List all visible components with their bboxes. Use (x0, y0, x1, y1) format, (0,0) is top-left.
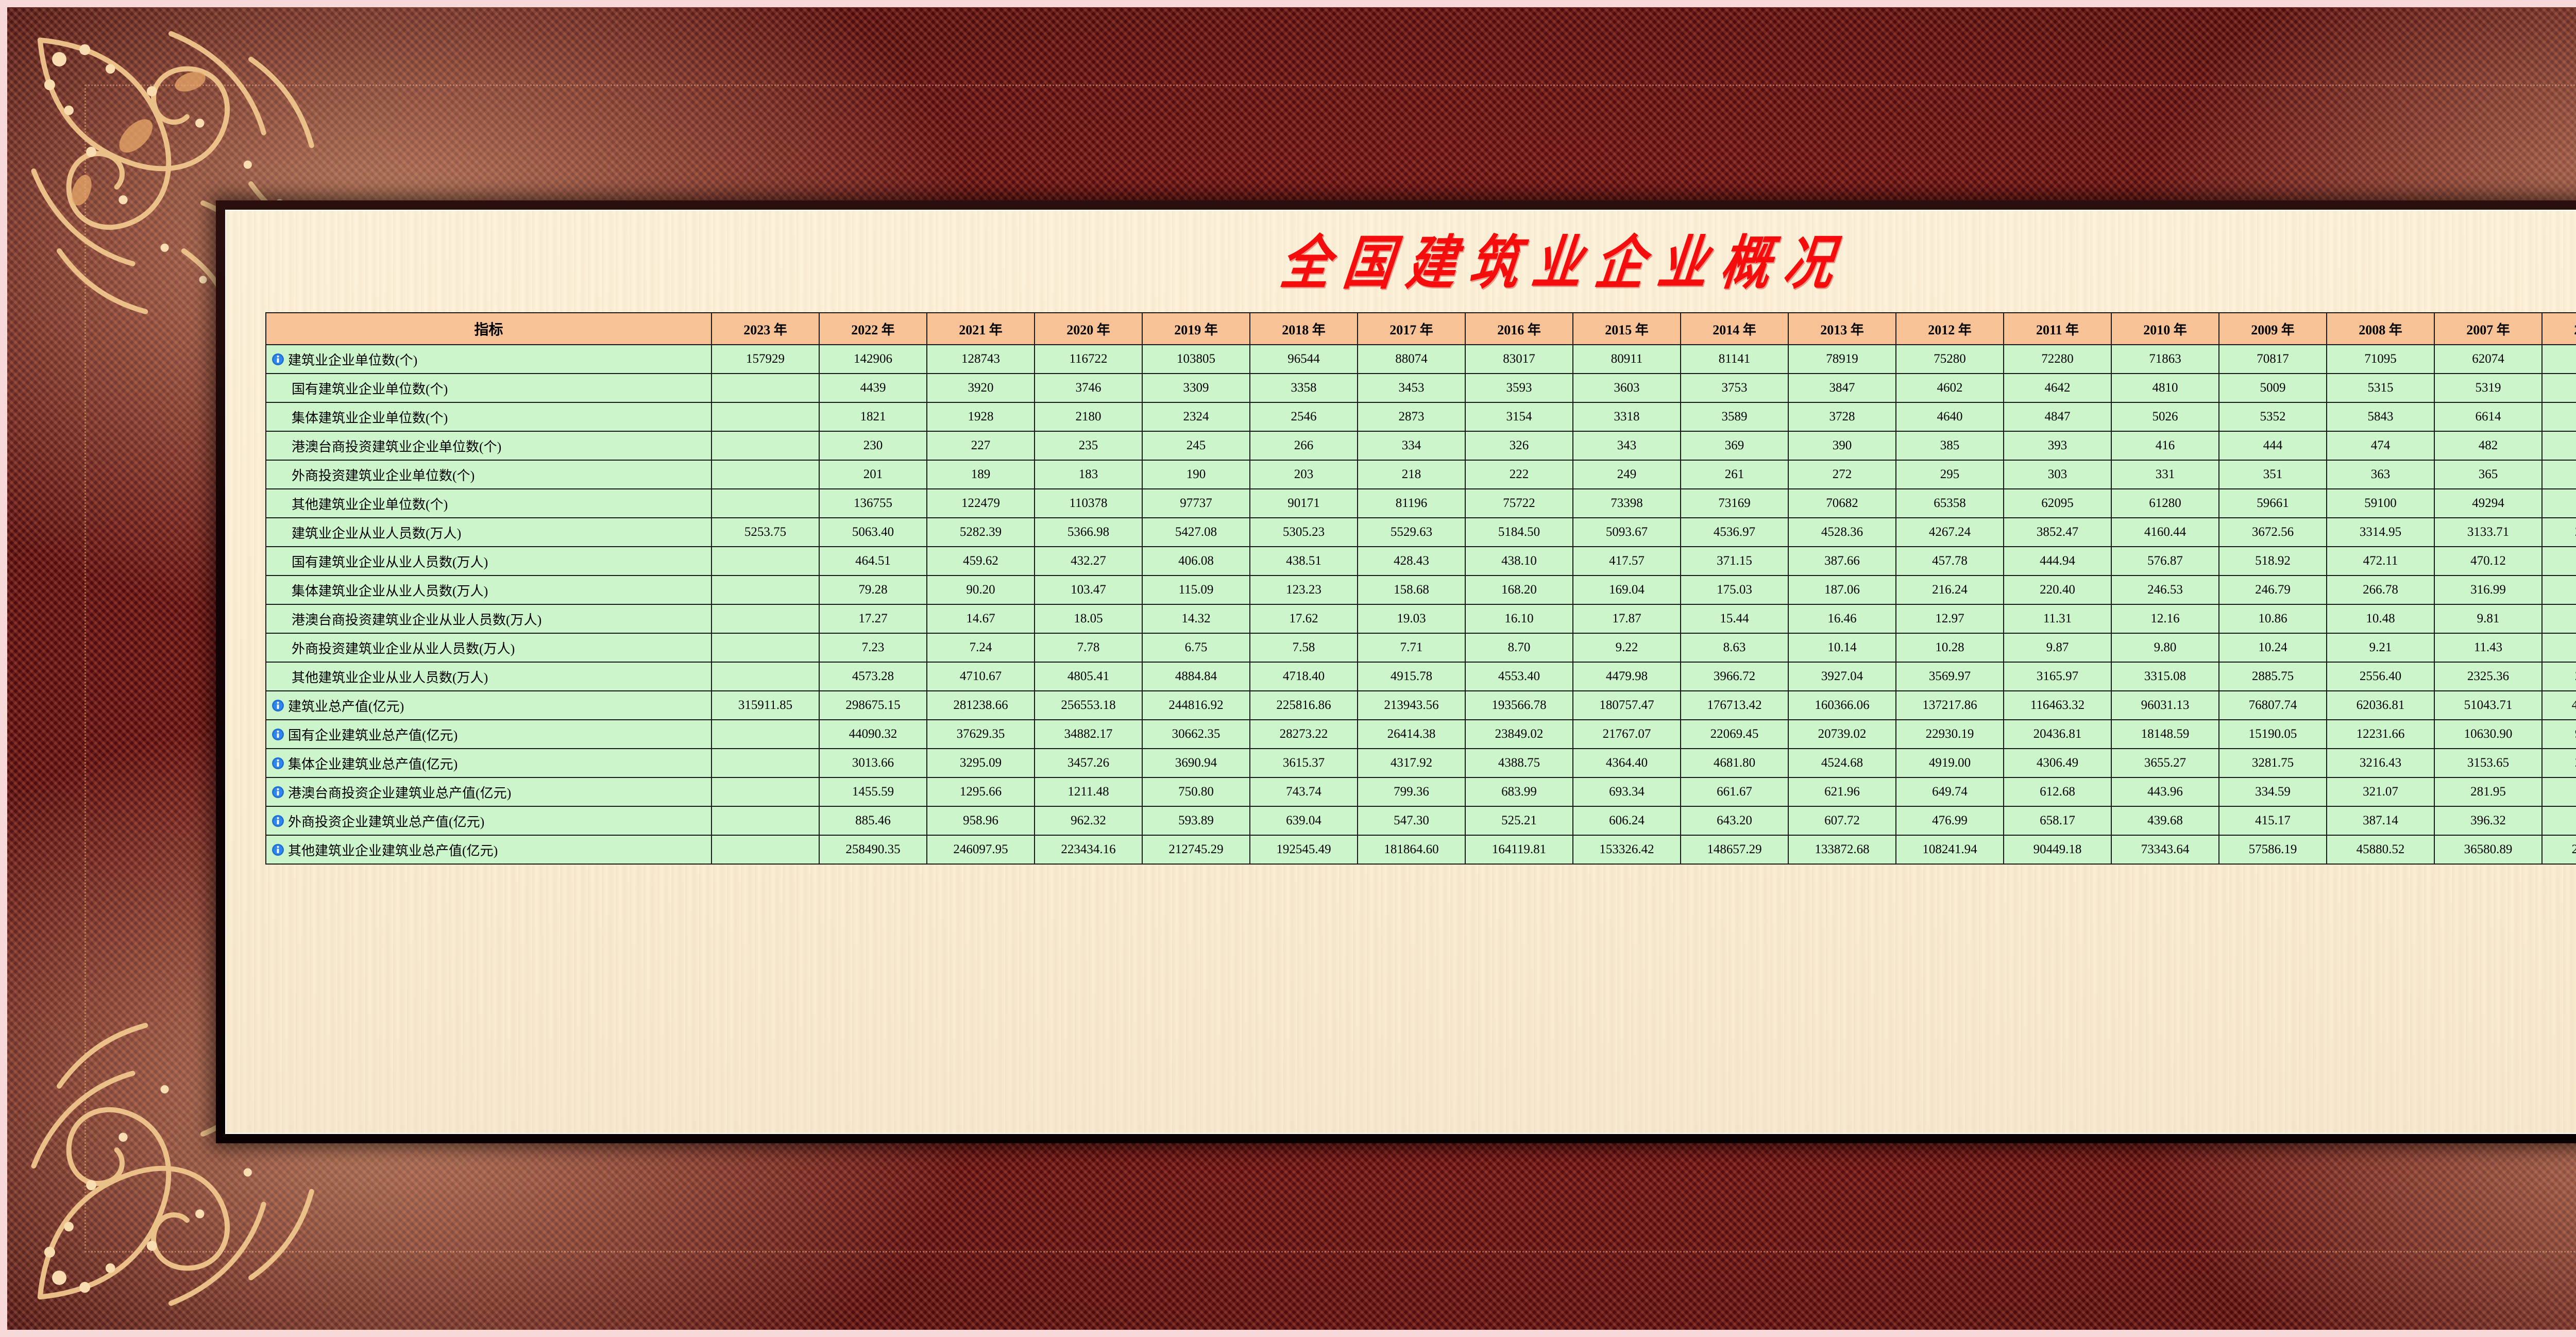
table-cell-value: 9218.56 (2542, 720, 2576, 749)
page-title: 全国建筑业企业概况 (1276, 215, 1852, 300)
table-cell-value: 258490.35 (819, 835, 927, 864)
table-cell-value: 193566.78 (1465, 691, 1573, 720)
table-cell-value: 606.24 (1573, 806, 1681, 835)
table-cell-value: 3690.94 (1142, 749, 1250, 777)
table-cell-value: 334 (1358, 431, 1465, 460)
table-cell-value: 5184.50 (1465, 518, 1573, 547)
table-cell-value: 261 (1681, 460, 1788, 489)
row-label-text: 建筑业企业从业人员数(万人) (292, 523, 461, 542)
table-cell-value: 593.89 (1142, 806, 1250, 835)
table-cell-value: 439.68 (2111, 806, 2219, 835)
column-header-year: 2006 年 (2542, 313, 2576, 345)
table-cell-value: 281238.66 (927, 691, 1035, 720)
table-cell-value: 46711 (2542, 489, 2576, 518)
table-cell-value: 693.34 (1573, 777, 1681, 806)
row-label-text: 集体企业建筑业总产值(亿元) (288, 754, 457, 773)
table-row: 港澳台商投资建筑业企业从业人员数(万人)17.2714.6718.0514.32… (266, 604, 2576, 633)
column-header-year: 2023 年 (711, 313, 819, 345)
table-cell-value: 6614 (2434, 402, 2542, 431)
table-cell-value: 363 (2327, 460, 2434, 489)
table-cell-value: 222 (1465, 460, 1573, 489)
table-cell-value: 18.05 (1035, 604, 1142, 633)
row-label-text: 其他建筑业企业建筑业总产值(亿元) (288, 840, 498, 859)
table-cell-value: 160366.06 (1788, 691, 1896, 720)
table-cell-value: 639.04 (1250, 806, 1358, 835)
info-icon[interactable] (272, 843, 284, 856)
table-cell-value: 3013.66 (819, 749, 927, 777)
table-cell-value: 387.14 (2327, 806, 2434, 835)
table-cell-value: 4479.98 (1573, 662, 1681, 691)
table-cell-value: 71863 (2111, 345, 2219, 374)
row-label-text: 外商投资建筑业企业单位数(个) (292, 465, 474, 484)
info-icon[interactable] (272, 699, 284, 712)
table-cell-value: 371.15 (1681, 547, 1788, 576)
table-cell-value: 148657.29 (1681, 835, 1788, 864)
table-cell-value: 8.90 (2542, 604, 2576, 633)
table-cell-value: 316.99 (2434, 576, 2542, 604)
table-cell-value: 73343.64 (2111, 835, 2219, 864)
table-row: 港澳台商投资建筑业企业单位数(个)23022723524526633432634… (266, 431, 2576, 460)
table-cell-value: 3295.09 (927, 749, 1035, 777)
table-cell-value: 218 (1358, 460, 1465, 489)
table-cell-value: 649.74 (1896, 777, 2004, 806)
table-row: 外商投资建筑业企业从业人员数(万人)7.237.247.786.757.587.… (266, 633, 2576, 662)
table-cell-value: 1295.66 (927, 777, 1035, 806)
table-cell-value: 396.32 (2434, 806, 2542, 835)
table-cell-value: 8.10 (2542, 633, 2576, 662)
table-cell-value: 416 (2111, 431, 2219, 460)
table-cell-value: 20436.81 (2004, 720, 2111, 749)
table-cell-value: 26414.38 (1358, 720, 1465, 749)
column-header-year: 2016 年 (1465, 313, 1573, 345)
table-cell-value: 30662.35 (1142, 720, 1250, 749)
table-cell-value: 351 (2219, 460, 2327, 489)
table-cell-value: 958.96 (927, 806, 1035, 835)
column-header-year: 2022 年 (819, 313, 927, 345)
table-cell-value: 5315 (2327, 374, 2434, 402)
table-cell-value: 240.52 (2542, 777, 2576, 806)
table-cell-value: 5319 (2434, 374, 2542, 402)
table-cell-value: 65358 (1896, 489, 2004, 518)
table-cell-value: 885.46 (819, 806, 927, 835)
table-cell-value: 962.32 (1035, 806, 1142, 835)
table-cell-value: 44090.32 (819, 720, 927, 749)
table-cell-value: 385 (1896, 431, 2004, 460)
table-cell-value: 7051 (2542, 402, 2576, 431)
table-row: 国有企业建筑业总产值(亿元)44090.3237629.3534882.1730… (266, 720, 2576, 749)
table-cell-value: 4640 (1896, 402, 2004, 431)
table-cell-value: 10.48 (2327, 604, 2434, 633)
table-cell-value: 464.51 (819, 547, 927, 576)
table-cell-value: 244816.92 (1142, 691, 1250, 720)
row-label-cell: 其他建筑业企业单位数(个) (266, 489, 711, 518)
table-row: 国有建筑业企业从业人员数(万人)464.51459.62432.27406.08… (266, 547, 2576, 576)
table-cell-value: 4919.00 (1896, 749, 2004, 777)
row-label-text: 建筑业企业单位数(个) (288, 350, 417, 369)
table-cell-value: 4847 (2004, 402, 2111, 431)
table-cell-value: 9.87 (2004, 633, 2111, 662)
table-cell-value: 80911 (1573, 345, 1681, 374)
table-header: 指标2023 年2022 年2021 年2020 年2019 年2018 年20… (266, 313, 2576, 345)
info-icon[interactable] (272, 786, 284, 799)
table-cell-value: 230 (819, 431, 927, 460)
table-cell-value: 612.68 (2004, 777, 2111, 806)
table-cell-value: 70682 (1788, 489, 1896, 518)
table-cell-value: 2180 (1035, 402, 1142, 431)
table-cell-value: 459.62 (927, 547, 1035, 576)
table-cell-value: 22069.45 (1681, 720, 1788, 749)
table-cell-value: 281.95 (2434, 777, 2542, 806)
table-cell-value: 4528.36 (1788, 518, 1896, 547)
table-cell-value: 153326.42 (1573, 835, 1681, 864)
table-cell-value: 4573.28 (819, 662, 927, 691)
table-cell-value: 14.67 (927, 604, 1035, 633)
table-cell-value: 274.87 (2542, 806, 2576, 835)
table-cell-value: 393 (2004, 431, 2111, 460)
column-header-year: 2009 年 (2219, 313, 2327, 345)
table-cell-value: 2061.55 (2542, 662, 2576, 691)
row-label-cell: 建筑业总产值(亿元) (266, 691, 711, 720)
table-cell-value: 225816.86 (1250, 691, 1358, 720)
table-cell-value: 59100 (2327, 489, 2434, 518)
table-cell-value: 4710.67 (927, 662, 1035, 691)
table-cell-value: 245 (1142, 431, 1250, 460)
table-cell-value: 49294 (2434, 489, 2542, 518)
table-cell-value: 331 (2111, 460, 2219, 489)
table-cell-value: 1928 (927, 402, 1035, 431)
table-cell-value: 116463.32 (2004, 691, 2111, 720)
table-row: 外商投资建筑业企业单位数(个)2011891831902032182222492… (266, 460, 2576, 489)
table-cell-value: 9.81 (2434, 604, 2542, 633)
table-cell-value: 1821 (819, 402, 927, 431)
table-cell-value: 406.08 (1142, 547, 1250, 576)
table-cell-value: 5009 (2219, 374, 2327, 402)
column-header-year: 2020 年 (1035, 313, 1142, 345)
table-cell-value: 12.97 (1896, 604, 2004, 633)
column-header-year: 2013 年 (1788, 313, 1896, 345)
table-cell-value: 18148.59 (2111, 720, 2219, 749)
table-cell-value: 576.87 (2111, 547, 2219, 576)
row-label-cell: 集体建筑业企业单位数(个) (266, 402, 711, 431)
table-cell-value (711, 402, 819, 431)
table-cell-value: 432.27 (1035, 547, 1142, 576)
table-cell-value: 103.47 (1035, 576, 1142, 604)
table-cell-value: 123.23 (1250, 576, 1358, 604)
table-cell-value: 3315.08 (2111, 662, 2219, 691)
table-cell-value (711, 374, 819, 402)
table-cell-value (711, 662, 819, 691)
table-cell-value: 220.40 (2004, 576, 2111, 604)
table-cell-value: 343 (1573, 431, 1681, 460)
table-cell-value: 9.21 (2327, 633, 2434, 662)
row-label-text: 建筑业总产值(亿元) (288, 696, 404, 715)
table-cell-value: 1455.59 (819, 777, 927, 806)
table-row: 其他建筑业企业建筑业总产值(亿元)258490.35246097.9522343… (266, 835, 2576, 864)
table-cell-value: 525.21 (1465, 806, 1573, 835)
table-cell-value: 2873 (1358, 402, 1465, 431)
table-cell-value: 750.80 (1142, 777, 1250, 806)
table-cell-value: 428.43 (1358, 547, 1465, 576)
content-mat: 全国建筑业企业概况 指标2023 年2022 年2021 年2020 年2019… (216, 200, 2576, 1143)
table-cell-value: 2324 (1142, 402, 1250, 431)
table-cell-value: 15190.05 (2219, 720, 2327, 749)
row-label-cell: 外商投资建筑业企业单位数(个) (266, 460, 711, 489)
table-cell-value: 20739.02 (1788, 720, 1896, 749)
table-cell-value: 266 (1250, 431, 1358, 460)
table-cell-value: 90449.18 (2004, 835, 2111, 864)
table-cell-value: 4681.80 (1681, 749, 1788, 777)
table-cell-value: 3154 (1465, 402, 1573, 431)
table-cell-value: 88074 (1358, 345, 1465, 374)
table-cell-value (711, 604, 819, 633)
table-cell-value: 256553.18 (1035, 691, 1142, 720)
table-cell-value: 79.28 (819, 576, 927, 604)
table-cell-value: 5305.23 (1250, 518, 1358, 547)
table-cell-value: 176713.42 (1681, 691, 1788, 720)
page-title-container: 全国建筑业企业概况 (226, 222, 2576, 294)
table-cell-value: 246097.95 (927, 835, 1035, 864)
table-cell-value: 15.44 (1681, 604, 1788, 633)
table-cell-value: 4364.40 (1573, 749, 1681, 777)
table-cell-value (711, 777, 819, 806)
table-cell-value: 3281.75 (2219, 749, 2327, 777)
table-cell-value: 5093.67 (1573, 518, 1681, 547)
table-cell-value: 90171 (1250, 489, 1358, 518)
table-cell-value: 3847 (1788, 374, 1896, 402)
table-cell-value: 3920 (927, 374, 1035, 402)
row-label-cell: 外商投资建筑业企业从业人员数(万人) (266, 633, 711, 662)
row-label-cell: 其他建筑业企业从业人员数(万人) (266, 662, 711, 691)
table-cell-value: 3615.37 (1250, 749, 1358, 777)
table-cell-value: 3457.26 (1035, 749, 1142, 777)
table-cell-value: 3314.95 (2327, 518, 2434, 547)
table-cell-value: 5555 (2542, 374, 2576, 402)
table-cell-value: 201 (819, 460, 927, 489)
table-cell-value: 7.23 (819, 633, 927, 662)
column-header-year: 2018 年 (1250, 313, 1358, 345)
table-cell-value: 4718.40 (1250, 662, 1358, 691)
table-cell-value: 4267.24 (1896, 518, 2004, 547)
table-cell-value: 661.67 (1681, 777, 1788, 806)
table-cell-value: 3358 (1250, 374, 1358, 402)
table-cell-value: 10.14 (1788, 633, 1896, 662)
row-label-text: 其他建筑业企业单位数(个) (292, 494, 448, 513)
table-row: 建筑业总产值(亿元)315911.85298675.15281238.66256… (266, 691, 2576, 720)
table-cell-value: 16.46 (1788, 604, 1896, 633)
table-cell-value: 110378 (1035, 489, 1142, 518)
row-label-text: 其他建筑业企业从业人员数(万人) (292, 667, 488, 686)
table-row: 建筑业企业从业人员数(万人)5253.755063.405282.395366.… (266, 518, 2576, 547)
table-cell-value: 62036.81 (2327, 691, 2434, 720)
table-row: 集体建筑业企业从业人员数(万人)79.2890.20103.47115.0912… (266, 576, 2576, 604)
table-cell-value: 96031.13 (2111, 691, 2219, 720)
table-cell-value: 444 (2219, 431, 2327, 460)
table-cell-value: 59661 (2219, 489, 2327, 518)
table-cell-value: 23849.02 (1465, 720, 1573, 749)
table-cell-value: 3966.72 (1681, 662, 1788, 691)
row-label-cell: 港澳台商投资建筑业企业单位数(个) (266, 431, 711, 460)
table-cell-value: 7.58 (1250, 633, 1358, 662)
row-label-cell: 国有企业建筑业总产值(亿元) (266, 720, 711, 749)
row-label-text: 港澳台商投资企业建筑业总产值(亿元) (288, 783, 511, 802)
table-cell-value: 3309 (1142, 374, 1250, 402)
table-cell-value: 3216.43 (2327, 749, 2434, 777)
statistics-table-container: 指标2023 年2022 年2021 年2020 年2019 年2018 年20… (265, 312, 2576, 865)
table-cell-value: 181864.60 (1358, 835, 1465, 864)
table-cell-value: 2904.48 (2542, 749, 2576, 777)
table-cell-value: 4388.75 (1465, 749, 1573, 777)
table-cell-value: 326 (1465, 431, 1573, 460)
table-cell-value: 438.10 (1465, 547, 1573, 576)
table-cell-value: 28918.73 (2542, 835, 2576, 864)
info-icon[interactable] (272, 815, 284, 827)
table-header-row: 指标2023 年2022 年2021 年2020 年2019 年2018 年20… (266, 313, 2576, 345)
table-cell-value: 203 (1250, 460, 1358, 489)
info-icon[interactable] (272, 757, 284, 770)
table-cell-value: 334.59 (2219, 777, 2327, 806)
table-cell-value: 438.51 (1250, 547, 1358, 576)
table-cell-value: 4524.68 (1788, 749, 1896, 777)
table-cell-value: 216.24 (1896, 576, 2004, 604)
table-cell-value: 2878.16 (2542, 518, 2576, 547)
row-label-text: 国有建筑业企业从业人员数(万人) (292, 552, 488, 571)
table-cell-value: 28273.22 (1250, 720, 1358, 749)
row-label-text: 外商投资企业建筑业总产值(亿元) (288, 811, 484, 831)
table-cell-value: 169.04 (1573, 576, 1681, 604)
table-cell-value: 266.78 (2327, 576, 2434, 604)
table-cell-value: 115.09 (1142, 576, 1250, 604)
table-cell-value: 73169 (1681, 489, 1788, 518)
table-cell-value: 3593 (1465, 374, 1573, 402)
table-cell-value: 4915.78 (1358, 662, 1465, 691)
row-label-cell: 建筑业企业从业人员数(万人) (266, 518, 711, 547)
table-cell-value: 4439 (819, 374, 927, 402)
row-label-text: 集体建筑业企业从业人员数(万人) (292, 581, 488, 600)
table-cell-value: 2325.36 (2434, 662, 2542, 691)
table-cell-value: 116722 (1035, 345, 1142, 374)
column-header-year: 2021 年 (927, 313, 1035, 345)
table-cell-value: 41557.16 (2542, 691, 2576, 720)
table-cell-value: 4602 (1896, 374, 2004, 402)
table-cell-value (711, 431, 819, 460)
table-cell-value: 142906 (819, 345, 927, 374)
table-cell-value: 22930.19 (1896, 720, 2004, 749)
table-cell-value: 71095 (2327, 345, 2434, 374)
table-cell-value: 332.00 (2542, 576, 2576, 604)
table-cell-value: 6.75 (1142, 633, 1250, 662)
table-cell-value: 607.72 (1788, 806, 1896, 835)
table-cell-value: 295 (1896, 460, 2004, 489)
table-cell-value: 96544 (1250, 345, 1358, 374)
table-row: 集体建筑业企业单位数(个)182119282180232425462873315… (266, 402, 2576, 431)
table-row: 国有建筑业企业单位数(个)443939203746330933583453359… (266, 374, 2576, 402)
table-cell-value: 272 (1788, 460, 1896, 489)
table-cell-value: 103805 (1142, 345, 1250, 374)
info-icon[interactable] (272, 728, 284, 741)
table-cell-value: 387.66 (1788, 547, 1896, 576)
table-cell-value (711, 489, 819, 518)
table-row: 港澳台商投资企业建筑业总产值(亿元)1455.591295.661211.487… (266, 777, 2576, 806)
table-cell-value: 72280 (2004, 345, 2111, 374)
table-cell-value: 298675.15 (819, 691, 927, 720)
table-cell-value: 180757.47 (1573, 691, 1681, 720)
column-header-year: 2010 年 (2111, 313, 2219, 345)
table-cell-value: 11.43 (2434, 633, 2542, 662)
row-label-text: 港澳台商投资建筑业企业单位数(个) (292, 436, 501, 455)
table-cell-value: 482 (2434, 431, 2542, 460)
table-cell-value: 10630.90 (2434, 720, 2542, 749)
table-cell-value: 621.96 (1788, 777, 1896, 806)
table-cell-value: 470.12 (2434, 547, 2542, 576)
table-cell-value: 17.87 (1573, 604, 1681, 633)
table-cell-value: 4805.41 (1035, 662, 1142, 691)
row-label-cell: 港澳台商投资企业建筑业总产值(亿元) (266, 777, 711, 806)
table-cell-value: 51043.71 (2434, 691, 2542, 720)
table-cell-value: 5352 (2219, 402, 2327, 431)
table-cell-value: 19.03 (1358, 604, 1465, 633)
table-cell-value: 474 (2327, 431, 2434, 460)
table-cell-value: 246.53 (2111, 576, 2219, 604)
table-cell-value: 7.78 (1035, 633, 1142, 662)
table-cell-value: 249 (1573, 460, 1681, 489)
table-cell-value: 1211.48 (1035, 777, 1142, 806)
content-paper: 全国建筑业企业概况 指标2023 年2022 年2021 年2020 年2019… (225, 210, 2576, 1134)
table-cell-value (711, 633, 819, 662)
table-cell-value: 62095 (2004, 489, 2111, 518)
table-cell-value: 444.94 (2004, 547, 2111, 576)
row-label-cell: 集体企业建筑业总产值(亿元) (266, 749, 711, 777)
table-cell-value: 108241.94 (1896, 835, 2004, 864)
table-cell-value (711, 720, 819, 749)
row-label-cell: 其他建筑业企业建筑业总产值(亿元) (266, 835, 711, 864)
row-label-cell: 国有建筑业企业单位数(个) (266, 374, 711, 402)
table-cell-value: 370 (2542, 460, 2576, 489)
table-cell-value: 7.24 (927, 633, 1035, 662)
table-cell-value: 45880.52 (2327, 835, 2434, 864)
column-header-year: 2011 年 (2004, 313, 2111, 345)
table-cell-value: 4306.49 (2004, 749, 2111, 777)
table-cell-value: 443.96 (2111, 777, 2219, 806)
table-cell-value: 2556.40 (2327, 662, 2434, 691)
table-cell-value: 3133.71 (2434, 518, 2542, 547)
table-cell-value: 17.62 (1250, 604, 1358, 633)
table-cell-value: 3603 (1573, 374, 1681, 402)
table-cell-value: 365 (2434, 460, 2542, 489)
table-cell-value (711, 460, 819, 489)
table-cell-value: 518.92 (2219, 547, 2327, 576)
table-cell-value: 83017 (1465, 345, 1573, 374)
column-header-indicator: 指标 (266, 313, 711, 345)
table-cell-value: 122479 (927, 489, 1035, 518)
table-cell-value: 60166 (2542, 345, 2576, 374)
table-cell-value: 3655.27 (2111, 749, 2219, 777)
table-cell-value: 683.99 (1465, 777, 1573, 806)
row-label-cell: 外商投资企业建筑业总产值(亿元) (266, 806, 711, 835)
table-cell-value: 10.86 (2219, 604, 2327, 633)
table-cell-value: 467.60 (2542, 547, 2576, 576)
table-cell-value: 190 (1142, 460, 1250, 489)
table-cell-value: 157929 (711, 345, 819, 374)
table-cell-value: 4317.92 (1358, 749, 1465, 777)
table-cell-value: 21767.07 (1573, 720, 1681, 749)
table-row: 其他建筑业企业从业人员数(万人)4573.284710.674805.41488… (266, 662, 2576, 691)
table-cell-value (711, 749, 819, 777)
table-cell-value: 78919 (1788, 345, 1896, 374)
table-cell-value: 5253.75 (711, 518, 819, 547)
table-cell-value: 3589 (1681, 402, 1788, 431)
table-cell-value: 547.30 (1358, 806, 1465, 835)
info-icon[interactable] (272, 353, 284, 366)
